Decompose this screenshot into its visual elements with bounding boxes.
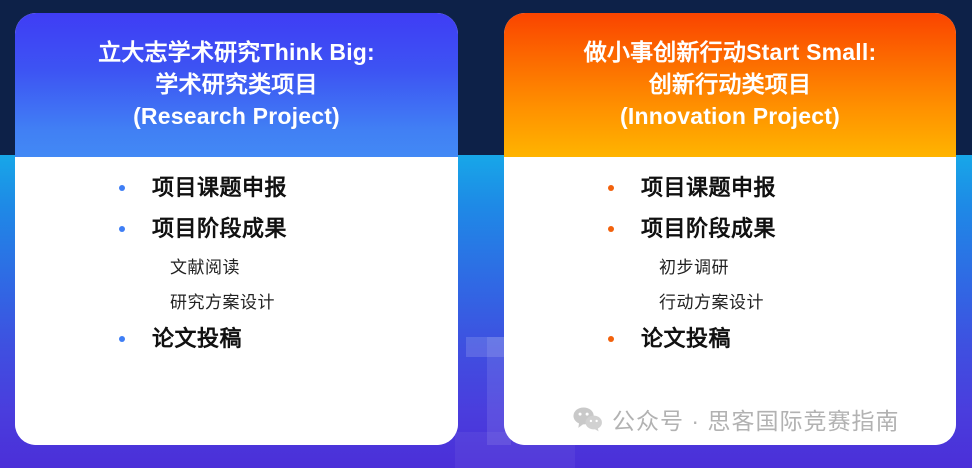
list-item: 项目课题申报 (15, 176, 458, 200)
list-item-label: 论文投稿 (152, 327, 242, 351)
list-item-label: 项目课题申报 (641, 176, 776, 200)
card-research-title-line-1: 立大志学术研究Think Big: (98, 37, 375, 69)
list-item: 项目课题申报 (504, 176, 956, 200)
bullet-dot-icon (119, 226, 125, 232)
list-item: 论文投稿 (15, 327, 458, 351)
bullet-dot-icon (608, 226, 614, 232)
bullet-dot-icon (119, 336, 125, 342)
card-research-title-line-3: (Research Project) (133, 101, 340, 133)
list-item: 项目阶段成果 (504, 217, 956, 241)
card-research-body: 项目课题申报 项目阶段成果 文献阅读 研究方案设计 论文投稿 (15, 157, 458, 445)
sub-list-item: 行动方案设计 (504, 293, 956, 313)
card-innovation-header: 做小事创新行动Start Small: 创新行动类项目 (Innovation … (504, 13, 956, 157)
card-research-project[interactable]: 立大志学术研究Think Big: 学术研究类项目 (Research Proj… (15, 13, 458, 445)
card-research-header: 立大志学术研究Think Big: 学术研究类项目 (Research Proj… (15, 13, 458, 157)
list-item-label: 项目课题申报 (152, 176, 287, 200)
card-research-title-line-2: 学术研究类项目 (155, 69, 317, 101)
bullet-dot-icon (608, 336, 614, 342)
sub-list-item: 文献阅读 (15, 258, 458, 278)
list-item-label: 论文投稿 (641, 327, 731, 351)
card-innovation-project[interactable]: 做小事创新行动Start Small: 创新行动类项目 (Innovation … (504, 13, 956, 445)
list-item: 论文投稿 (504, 327, 956, 351)
card-innovation-body: 项目课题申报 项目阶段成果 初步调研 行动方案设计 论文投稿 (504, 157, 956, 445)
card-innovation-title-line-2: 创新行动类项目 (649, 69, 811, 101)
sub-list-item: 初步调研 (504, 258, 956, 278)
list-item: 项目阶段成果 (15, 217, 458, 241)
card-innovation-title-line-3: (Innovation Project) (620, 101, 840, 133)
list-item-label: 项目阶段成果 (641, 217, 776, 241)
list-item-label: 项目阶段成果 (152, 217, 287, 241)
bullet-dot-icon (119, 185, 125, 191)
card-innovation-title-line-1: 做小事创新行动Start Small: (584, 37, 877, 69)
sub-list-item: 研究方案设计 (15, 293, 458, 313)
bullet-dot-icon (608, 185, 614, 191)
